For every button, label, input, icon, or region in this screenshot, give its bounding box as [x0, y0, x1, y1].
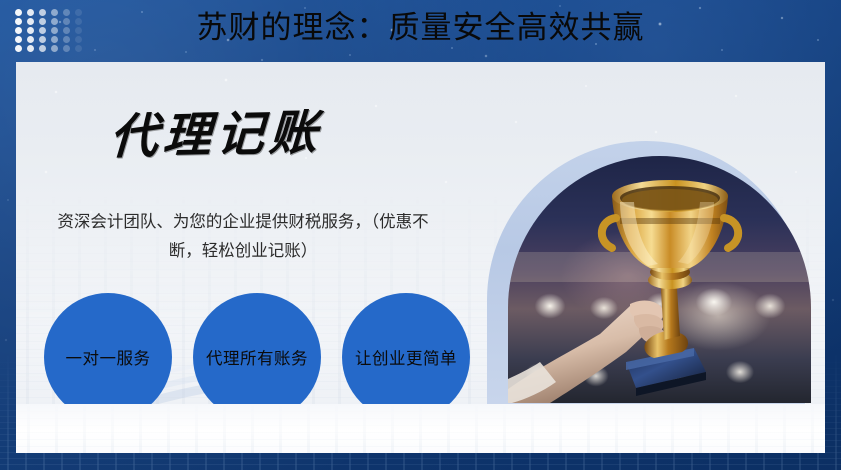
trophy-and-hand-illustration — [508, 156, 811, 403]
feature-circle-2[interactable]: 代理所有账务 — [193, 293, 321, 421]
feature-circle-1-label: 一对一服务 — [66, 345, 151, 369]
feature-circle-1[interactable]: 一对一服务 — [44, 293, 172, 421]
feature-circle-3-label: 让创业更简单 — [355, 345, 457, 369]
card-subtitle: 资深会计团队、为您的企业提供财税服务，（优惠不断，轻松创业记账） — [48, 208, 438, 266]
bottom-skyline-texture — [16, 404, 825, 453]
slide-root: 苏财的理念：质量安全高效共赢 — [0, 0, 841, 470]
brush-heading: 代理记账 — [108, 101, 323, 169]
feature-circle-2-label: 代理所有账务 — [206, 345, 308, 369]
card-bottom-strip — [16, 404, 825, 453]
feature-circle-3[interactable]: 让创业更简单 — [342, 293, 470, 421]
page-title: 苏财的理念：质量安全高效共赢 — [0, 6, 841, 50]
trophy-photo — [508, 156, 811, 403]
